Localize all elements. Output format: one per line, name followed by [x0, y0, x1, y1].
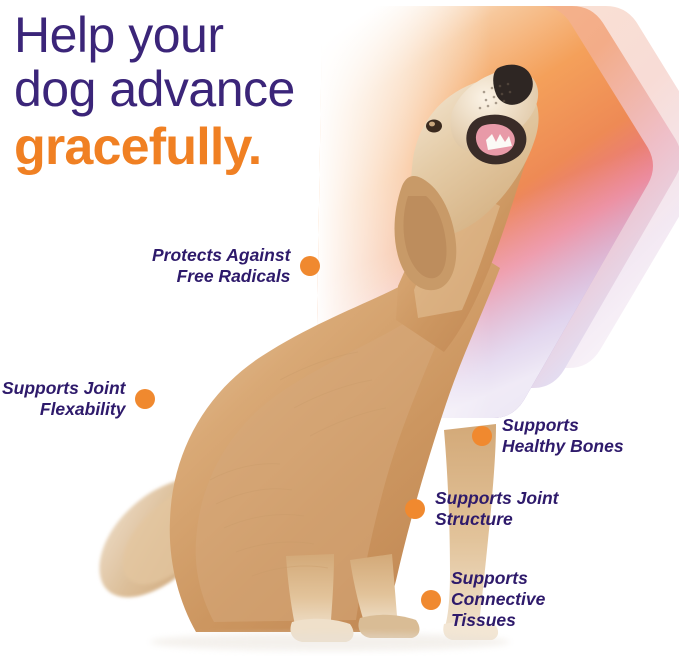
- hexagon-back: [458, 6, 679, 368]
- headline-accent: gracefully.: [14, 118, 444, 176]
- dog-tail: [100, 467, 293, 598]
- benefit-dot-icon: [300, 256, 320, 276]
- headline-line-1: Help your: [14, 8, 444, 62]
- benefit-dot-icon: [405, 499, 425, 519]
- product-benefits-poster: Help your dog advance gracefully.: [0, 0, 679, 658]
- callout-label: Supports Joint Structure: [435, 488, 558, 530]
- callout-supports-healthy-bones[interactable]: Supports Healthy Bones: [472, 415, 624, 457]
- benefit-dot-icon: [472, 426, 492, 446]
- callout-label: Supports Joint Flexability: [2, 378, 125, 420]
- benefit-dot-icon: [135, 389, 155, 409]
- headline: Help your dog advance gracefully.: [14, 8, 444, 176]
- callout-label: Supports Healthy Bones: [502, 415, 624, 457]
- headline-line-2: dog advance: [14, 62, 444, 116]
- fur-texture: [210, 352, 386, 576]
- callout-label: Protects Against Free Radicals: [152, 245, 290, 287]
- callout-protects-against-free-radicals[interactable]: Protects Against Free Radicals: [152, 245, 320, 287]
- callout-label: Supports Connective Tissues: [451, 568, 545, 631]
- hexagon-middle: [420, 6, 679, 388]
- benefit-dot-icon: [421, 590, 441, 610]
- dog-hind-legs: [286, 554, 419, 642]
- callout-supports-joint-structure[interactable]: Supports Joint Structure: [405, 488, 558, 530]
- callout-supports-joint-flexability[interactable]: Supports Joint Flexability: [2, 378, 155, 420]
- callout-supports-connective-tissues[interactable]: Supports Connective Tissues: [421, 568, 545, 631]
